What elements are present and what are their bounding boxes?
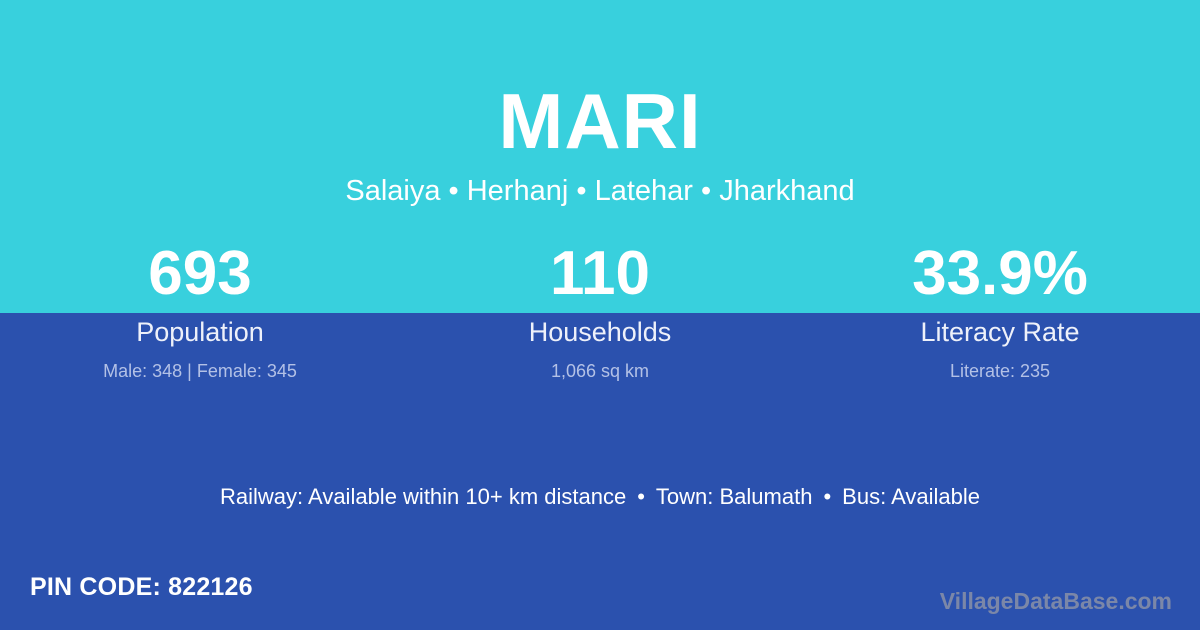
stat-population: 693 Population Male: 348 | Female: 345 [0,243,400,380]
stat-sublabel: Male: 348 | Female: 345 [0,362,400,380]
village-info-card: MARI Salaiya • Herhanj • Latehar • Jhark… [0,0,1200,630]
page-title: MARI [0,0,1200,160]
pin-code: PIN CODE: 822126 [30,575,253,600]
amenity-town: Town: Balumath [656,484,813,509]
amenity-railway: Railway: Available within 10+ km distanc… [220,484,626,509]
stats-row: 693 Population Male: 348 | Female: 345 1… [0,243,1200,380]
card-header: MARI Salaiya • Herhanj • Latehar • Jhark… [0,0,1200,206]
stat-sublabel: Literate: 235 [800,362,1200,380]
stat-literacy-rate: 33.9% Literacy Rate Literate: 235 [800,243,1200,380]
site-watermark: VillageDataBase.com [940,590,1172,613]
stat-label: Literacy Rate [800,319,1200,346]
stat-sublabel: 1,066 sq km [400,362,800,380]
amenity-separator-icon: • [812,486,842,508]
stat-value: 693 [0,243,400,309]
amenities-line: Railway: Available within 10+ km distanc… [0,486,1200,508]
stat-households: 110 Households 1,066 sq km [400,243,800,380]
stat-value: 33.9% [800,243,1200,309]
stat-label: Population [0,319,400,346]
amenity-separator-icon: • [626,486,656,508]
stat-value: 110 [400,243,800,309]
card-footer: PIN CODE: 822126 VillageDataBase.com [0,570,1200,630]
stat-label: Households [400,319,800,346]
amenity-bus: Bus: Available [842,484,980,509]
breadcrumb: Salaiya • Herhanj • Latehar • Jharkhand [0,160,1200,206]
